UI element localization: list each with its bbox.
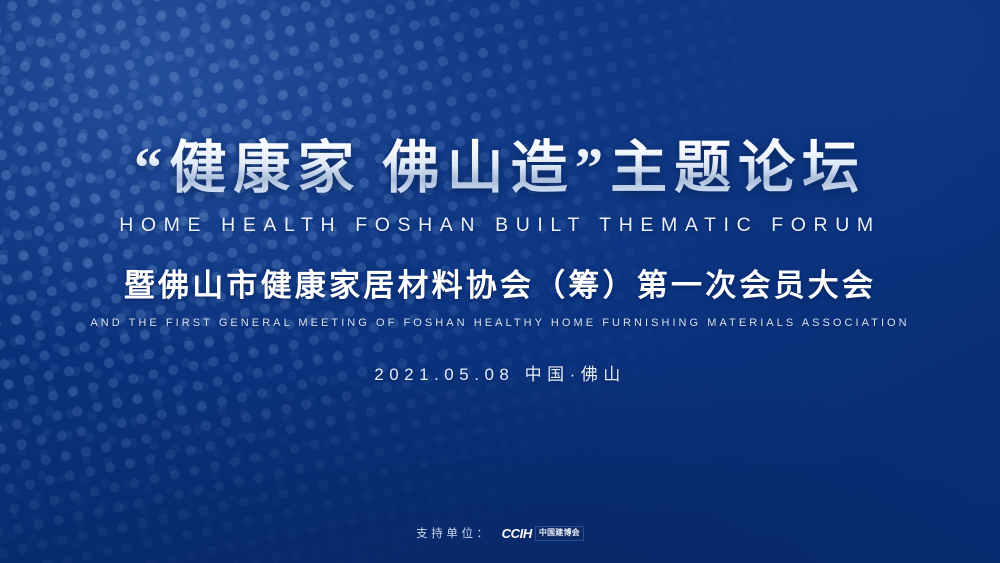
sub-title-english: AND THE FIRST GENERAL MEETING OF FOSHAN … [0,317,1000,329]
sponsor-logo: CCIH 中国建博会 [501,526,584,541]
main-title-english: HOME HEALTH FOSHAN BUILT THEMATIC FORUM [0,214,1000,237]
sponsor-logo-wordmark: CCIH [501,526,535,541]
poster-canvas: “健康家 佛山造”主题论坛 HOME HEALTH FOSHAN BUILT T… [0,0,1000,563]
support-unit-label: 支持单位： [416,525,492,541]
hero-text-block: “健康家 佛山造”主题论坛 HOME HEALTH FOSHAN BUILT T… [0,136,1000,385]
footer-support-row: 支持单位： CCIH 中国建博会 [0,525,1000,541]
date-and-location: 2021.05.08 中国·佛山 [0,360,1000,385]
main-title: “健康家 佛山造”主题论坛 [0,136,1000,202]
poster-content: “健康家 佛山造”主题论坛 HOME HEALTH FOSHAN BUILT T… [0,0,1000,563]
sub-title: 暨佛山市健康家居材料协会（筹）第一次会员大会 [0,260,1000,305]
sponsor-logo-badge: 中国建博会 [535,526,584,541]
